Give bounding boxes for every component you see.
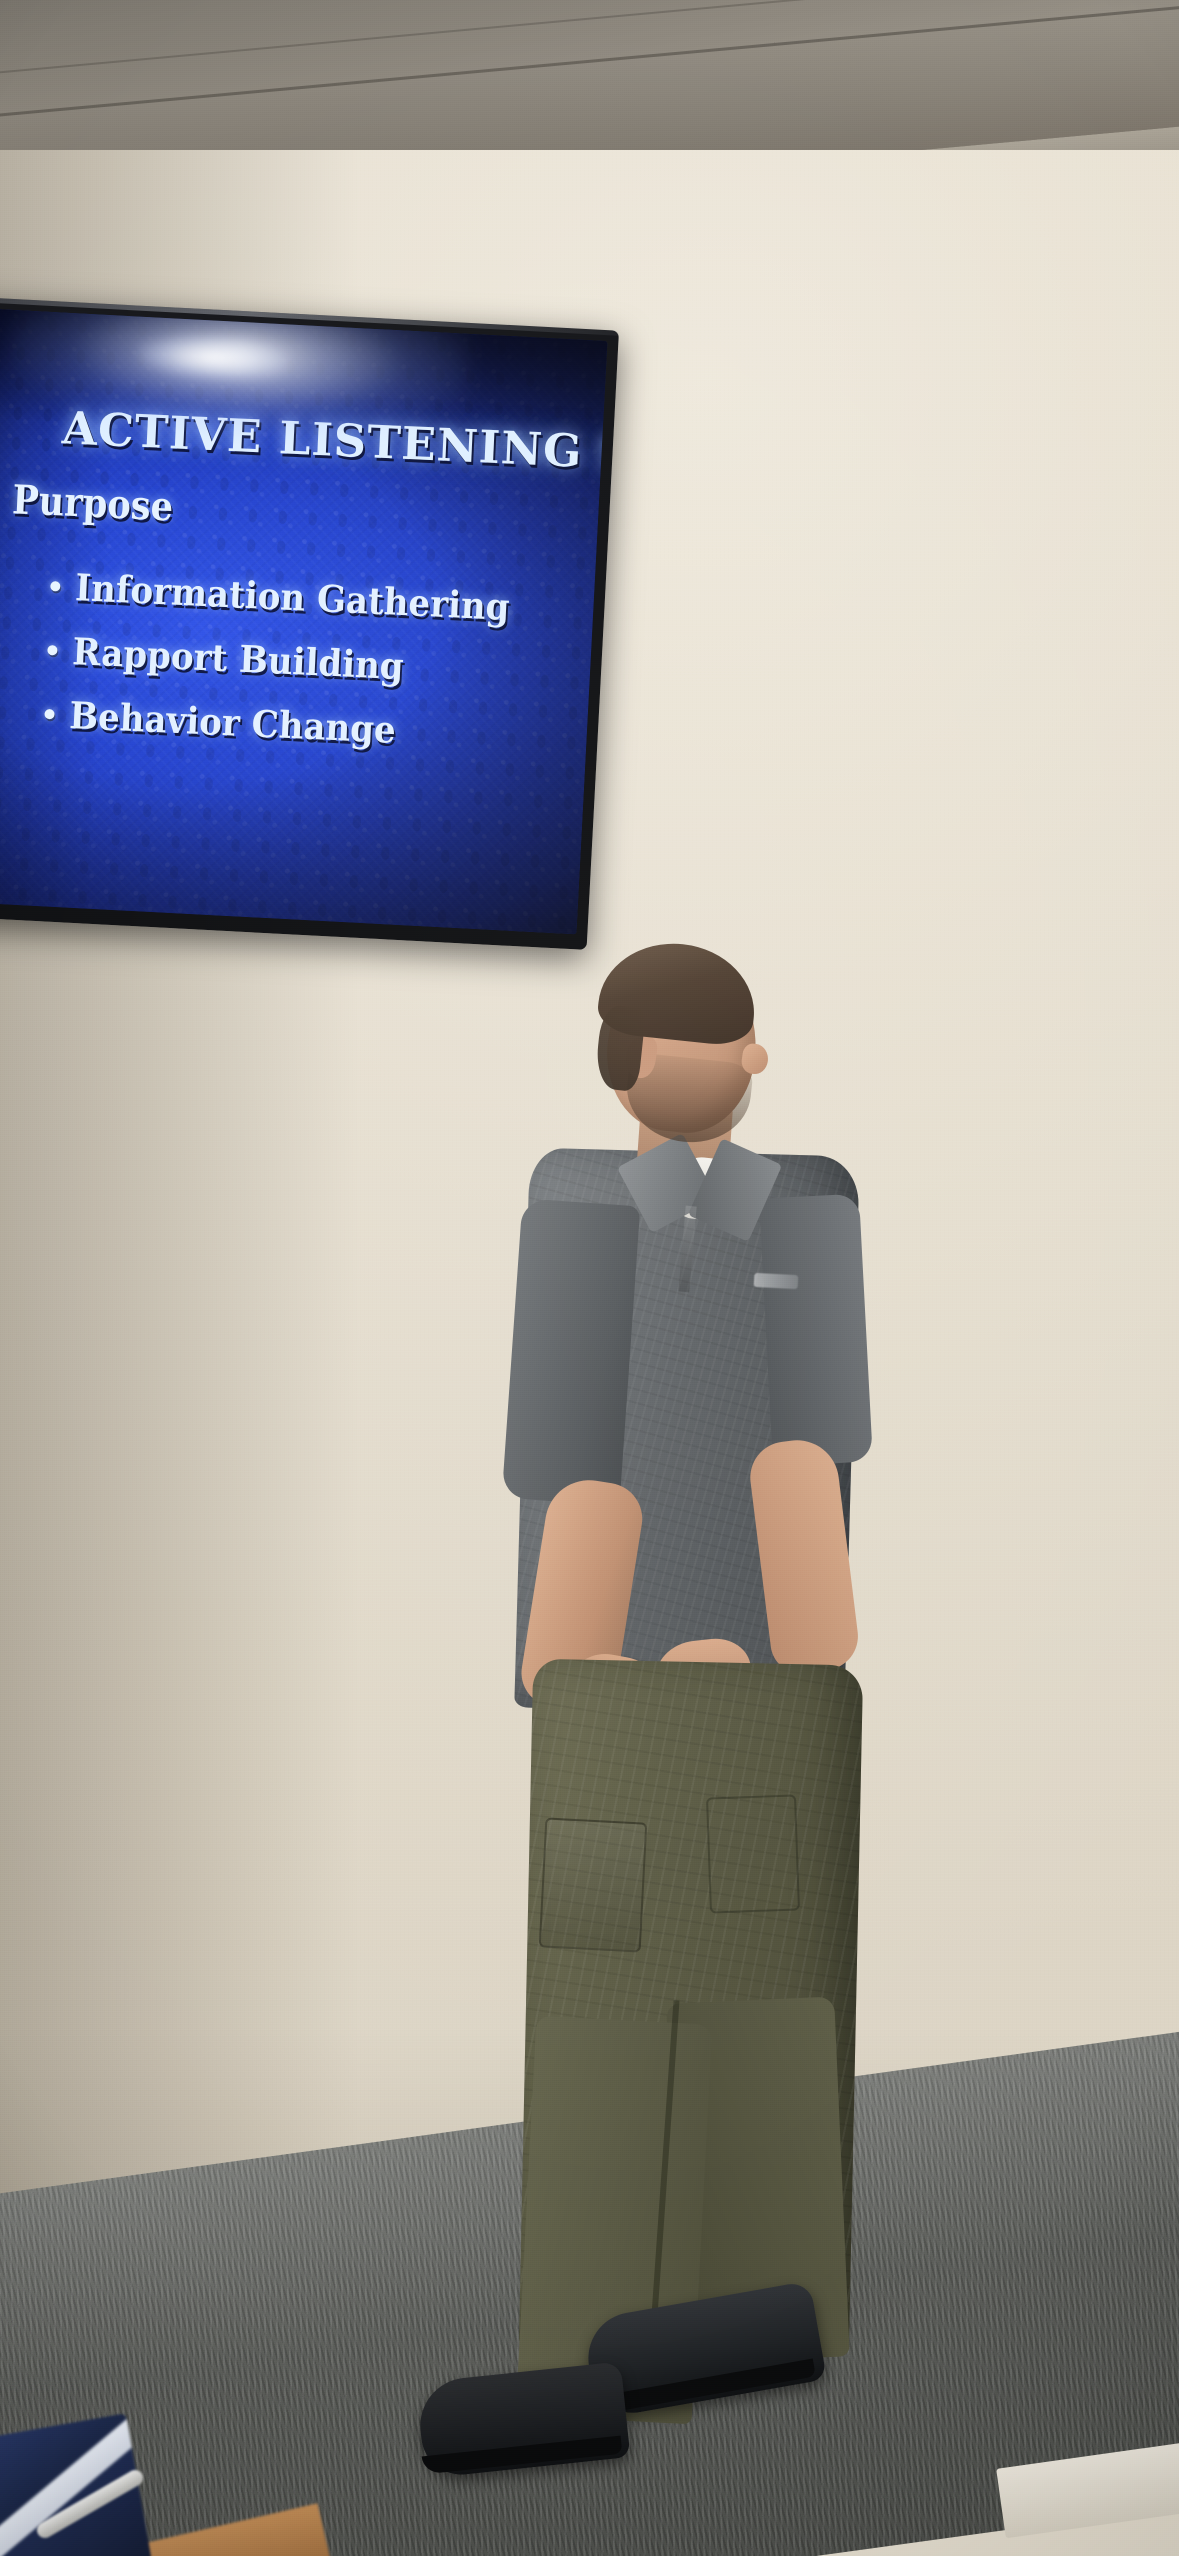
bullet-dot-icon [44,709,54,719]
presenter-nose [740,1042,770,1075]
slide-subtitle-purpose: Purpose [11,476,174,530]
bullet-label: Behavior Change [69,693,397,752]
bullet-dot-icon [47,645,57,655]
list-item: Rapport Building [46,628,545,695]
presenter-sleeve-left [502,1198,641,1506]
pants-cargo-pocket-front [539,1817,648,1952]
list-item: Information Gathering [49,564,548,631]
screen-glare-highlight [137,333,289,383]
display-screen: ACTIVE LISTENING SKILLS Purpose Informat… [0,304,607,935]
photo-scene: ACTIVE LISTENING SKILLS Purpose Informat… [0,0,1179,2556]
bullet-dot-icon [50,581,60,591]
flat-panel-display[interactable]: ACTIVE LISTENING SKILLS Purpose Informat… [0,292,619,950]
shirt-logo [754,1273,799,1289]
presenter [430,940,950,2556]
list-item: Behavior Change [44,692,543,759]
slide-bullet-list: Information Gathering Rapport Building B… [43,564,549,778]
bullet-label: Information Gathering [74,565,510,629]
bullet-label: Rapport Building [71,629,404,688]
pants-cargo-pocket-back [706,1794,800,1913]
presenter-sleeve-right [759,1194,873,1467]
